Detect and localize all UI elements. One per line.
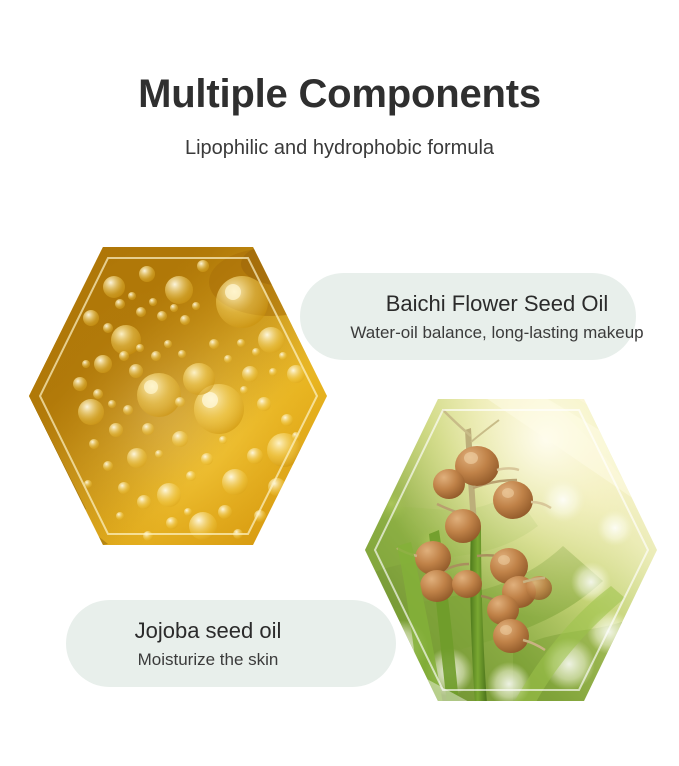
page-subtitle: Lipophilic and hydrophobic formula <box>0 136 679 160</box>
hexagon-image-jojoba-seed-oil <box>363 396 659 704</box>
plant-texture <box>363 396 659 704</box>
component-benefit: Water-oil balance, long-lasting makeup <box>350 322 643 343</box>
page-title: Multiple Components <box>0 72 679 117</box>
component-benefit: Moisturize the skin <box>138 649 279 670</box>
product-feature-panel: Multiple Components Lipophilic and hydro… <box>0 0 679 766</box>
oil-texture <box>28 244 328 548</box>
hexagon-image-baichi-flower-seed-oil <box>28 244 328 548</box>
component-card-jojoba-seed-oil: Jojoba seed oil Moisturize the skin <box>66 600 396 687</box>
component-card-baichi-flower-seed-oil: Baichi Flower Seed Oil Water-oil balance… <box>300 273 636 360</box>
header: Multiple Components Lipophilic and hydro… <box>0 0 679 160</box>
component-name: Jojoba seed oil <box>135 617 282 645</box>
component-name: Baichi Flower Seed Oil <box>386 290 609 318</box>
